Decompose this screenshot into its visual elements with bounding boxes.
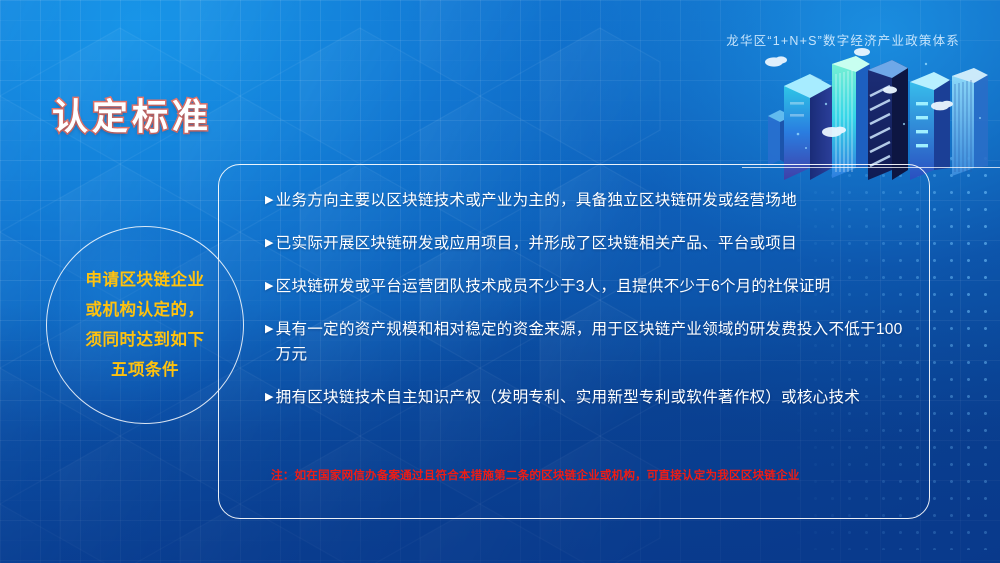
city-skyline-illustration-icon (740, 44, 1000, 184)
criteria-summary-circle: 申请区块链企业 或机构认定的， 须同时达到如下 五项条件 (46, 226, 244, 424)
list-item: ▶ 具有一定的资产规模和相对稳定的资金来源，用于区块链产业领域的研发费投入不低于… (265, 317, 915, 367)
list-item-text: 已实际开展区块链研发或应用项目，并形成了区块链相关产品、平台或项目 (276, 231, 915, 256)
list-item: ▶ 已实际开展区块链研发或应用项目，并形成了区块链相关产品、平台或项目 (265, 231, 915, 256)
horizon-line (742, 167, 1000, 168)
list-item-text: 拥有区块链技术自主知识产权（发明专利、实用新型专利或软件著作权）或核心技术 (276, 385, 915, 410)
triangle-bullet-icon: ▶ (265, 231, 274, 256)
circle-line: 五项条件 (111, 355, 179, 385)
triangle-bullet-icon: ▶ (265, 274, 274, 299)
policy-system-header: 龙华区“1+N+S”数字经济产业政策体系 (726, 30, 960, 49)
list-item-text: 具有一定的资产规模和相对稳定的资金来源，用于区块链产业领域的研发费投入不低于10… (276, 317, 915, 367)
circle-line: 须同时达到如下 (86, 325, 205, 355)
list-item: ▶ 区块链研发或平台运营团队技术成员不少于3人，且提供不少于6个月的社保证明 (265, 274, 915, 299)
circle-line: 申请区块链企业 (86, 265, 205, 295)
cloud-icon (765, 48, 953, 137)
triangle-bullet-icon: ▶ (265, 188, 274, 213)
triangle-bullet-icon: ▶ (265, 385, 274, 410)
circle-line: 或机构认定的， (86, 295, 205, 325)
list-item: ▶ 业务方向主要以区块链技术或产业为主的，具备独立区块链研发或经营场地 (265, 188, 915, 213)
triangle-bullet-icon: ▶ (265, 317, 274, 342)
list-item-text: 业务方向主要以区块链技术或产业为主的，具备独立区块链研发或经营场地 (276, 188, 915, 213)
list-item: ▶ 拥有区块链技术自主知识产权（发明专利、实用新型专利或软件著作权）或核心技术 (265, 385, 915, 410)
list-item-text: 区块链研发或平台运营团队技术成员不少于3人，且提供不少于6个月的社保证明 (276, 274, 915, 299)
slide-canvas: 龙华区“1+N+S”数字经济产业政策体系 (0, 0, 1000, 563)
page-title: 认定标准 (52, 88, 212, 140)
criteria-list: ▶ 业务方向主要以区块链技术或产业为主的，具备独立区块链研发或经营场地 ▶ 已实… (265, 188, 915, 428)
footnote-text: 注：如在国家网信办备案通过且符合本措施第二条的区块链企业或机构，可直接认定为我区… (271, 467, 911, 483)
